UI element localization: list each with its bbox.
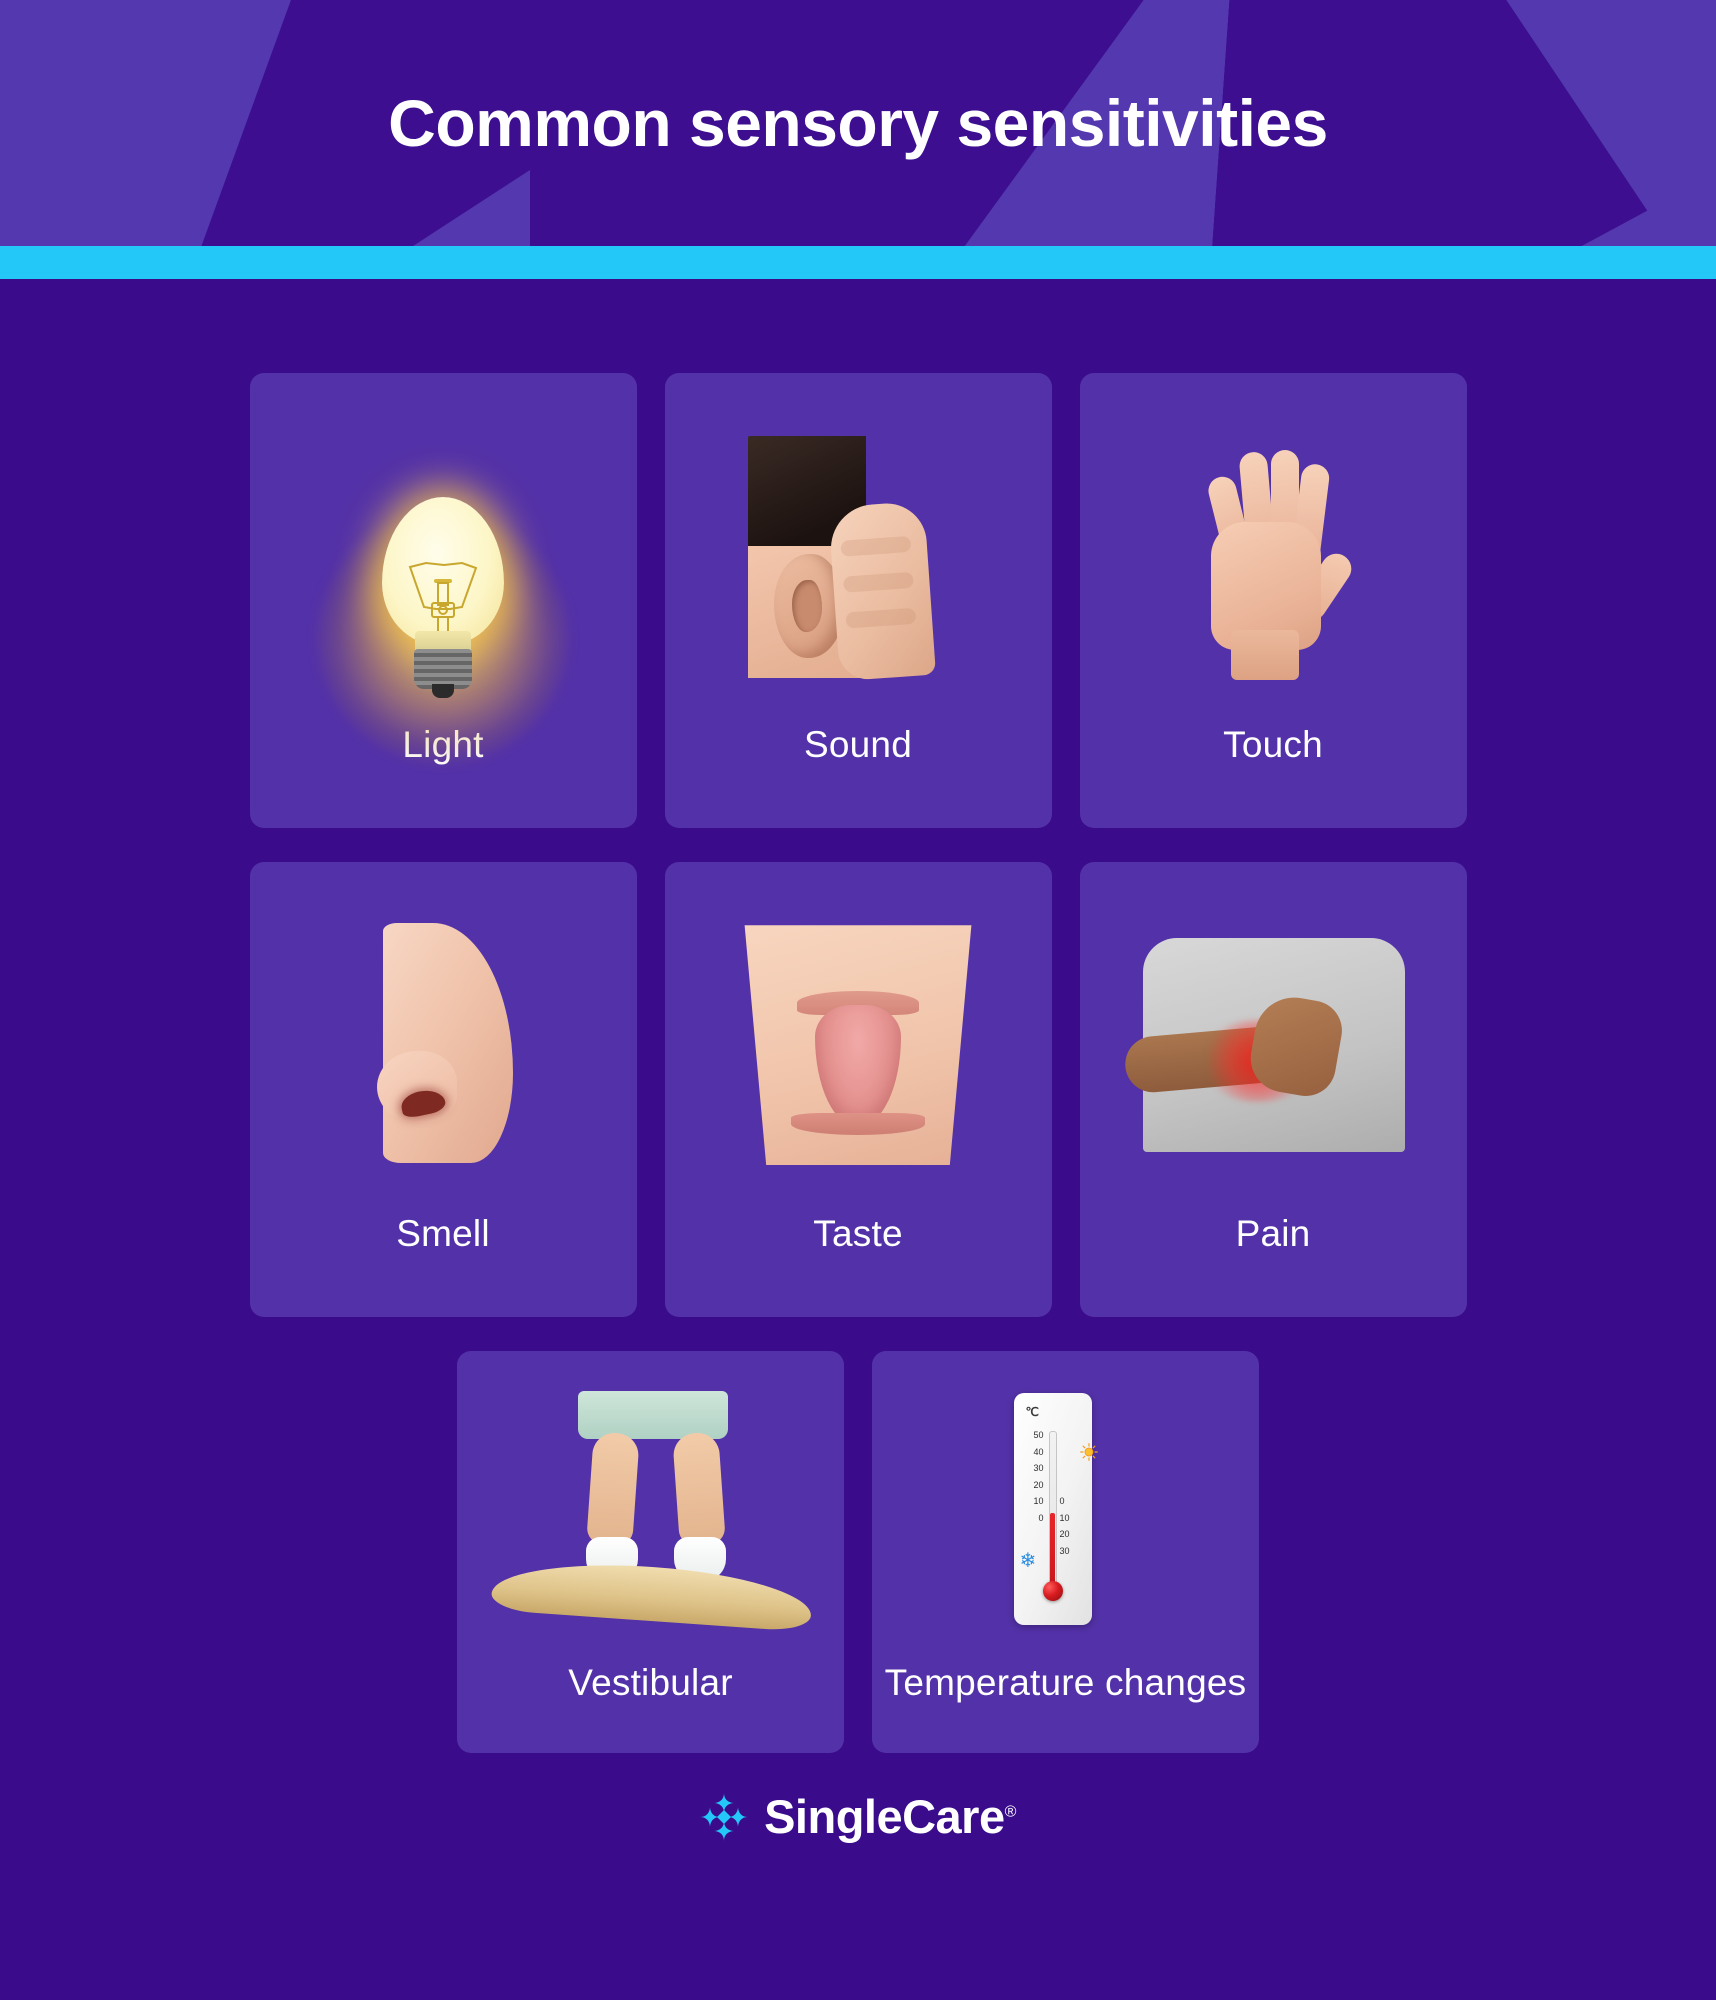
- card-row-1: Light Sound: [0, 373, 1716, 828]
- balance-board-icon: [486, 1391, 816, 1631]
- card-label: Pain: [1226, 1213, 1321, 1254]
- lightbulb-icon: [343, 435, 543, 685]
- card-art: [1080, 373, 1467, 724]
- card-touch[interactable]: Touch: [1080, 373, 1467, 828]
- scale-tick: 0: [1022, 1514, 1044, 1531]
- nose-bridge: [383, 923, 513, 1163]
- card-row-2: Smell Taste: [0, 862, 1716, 1317]
- card-label: Touch: [1213, 724, 1333, 765]
- card-grid: Light Sound: [0, 279, 1716, 1884]
- cupped-hand: [828, 501, 936, 681]
- card-smell[interactable]: Smell: [250, 862, 637, 1317]
- singlecare-logo-icon: [700, 1793, 748, 1841]
- scale-tick: 10: [1060, 1514, 1084, 1531]
- card-art: [250, 862, 637, 1213]
- thermometer-scale-left: 50 40 30 20 10 0: [1022, 1431, 1044, 1530]
- toddler-shorts: [578, 1391, 728, 1439]
- card-label: Taste: [803, 1213, 912, 1254]
- wrist: [1231, 630, 1299, 680]
- scale-tick: 0: [1060, 1497, 1084, 1514]
- thermometer-mercury: [1050, 1513, 1055, 1587]
- scale-tick: 30: [1022, 1464, 1044, 1481]
- leg-right: [672, 1432, 726, 1547]
- scale-tick: 50: [1022, 1431, 1044, 1448]
- card-taste[interactable]: Taste: [665, 862, 1052, 1317]
- scale-tick: 20: [1060, 1530, 1084, 1547]
- thermometer-unit-label: ℃: [1026, 1405, 1039, 1419]
- card-art: ℃ 50 40 30 20 10 0 0: [872, 1351, 1259, 1662]
- card-art: [1080, 862, 1467, 1213]
- bulb-screw-base: [414, 649, 472, 689]
- infographic-root: Common sensory sensitivities: [0, 0, 1716, 2000]
- ear-cupped-hand-icon: [748, 436, 968, 678]
- open-palm-hand-icon: [1163, 430, 1383, 685]
- tongue-out-mouth-icon: [723, 925, 993, 1165]
- thermometer-scale-right: 0 10 20 30: [1060, 1497, 1084, 1563]
- leg-left: [586, 1432, 640, 1547]
- brand-name: SingleCare: [764, 1790, 1005, 1843]
- sun-icon: [1080, 1443, 1098, 1461]
- card-sound[interactable]: Sound: [665, 373, 1052, 828]
- thermometer-icon: ℃ 50 40 30 20 10 0 0: [986, 1393, 1146, 1633]
- scale-tick: 40: [1022, 1448, 1044, 1465]
- snowflake-icon: ❄: [1020, 1551, 1037, 1571]
- thermometer-bulb: [1043, 1581, 1063, 1601]
- registered-trademark: ®: [1005, 1803, 1016, 1820]
- card-art: [665, 862, 1052, 1213]
- scale-tick: 20: [1022, 1481, 1044, 1498]
- scale-tick: 10: [1022, 1497, 1044, 1514]
- header-banner: Common sensory sensitivities: [0, 0, 1716, 246]
- scale-tick: 30: [1060, 1547, 1084, 1564]
- card-label: Smell: [386, 1213, 500, 1254]
- arm-pain-icon: [1103, 938, 1443, 1168]
- card-art: [250, 373, 637, 724]
- singlecare-wordmark: SingleCare®: [764, 1789, 1016, 1844]
- cyan-divider-bar: [0, 246, 1716, 279]
- card-label: Temperature changes: [875, 1662, 1257, 1703]
- wooden-balance-board: [490, 1556, 813, 1632]
- card-vestibular[interactable]: Vestibular: [457, 1351, 844, 1753]
- card-label: Vestibular: [558, 1662, 743, 1703]
- card-label: Sound: [794, 724, 922, 765]
- nose-profile-icon: [343, 923, 543, 1173]
- card-pain[interactable]: Pain: [1080, 862, 1467, 1317]
- brand-footer: SingleCare®: [0, 1789, 1716, 1884]
- bulb-filament-icon: [404, 561, 482, 633]
- card-art: [457, 1351, 844, 1662]
- card-light[interactable]: Light: [250, 373, 637, 828]
- page-title: Common sensory sensitivities: [0, 0, 1716, 246]
- card-temperature-changes[interactable]: ℃ 50 40 30 20 10 0 0: [872, 1351, 1259, 1753]
- card-art: [665, 373, 1052, 724]
- card-row-3: Vestibular ℃ 50 40 30 20: [0, 1351, 1716, 1753]
